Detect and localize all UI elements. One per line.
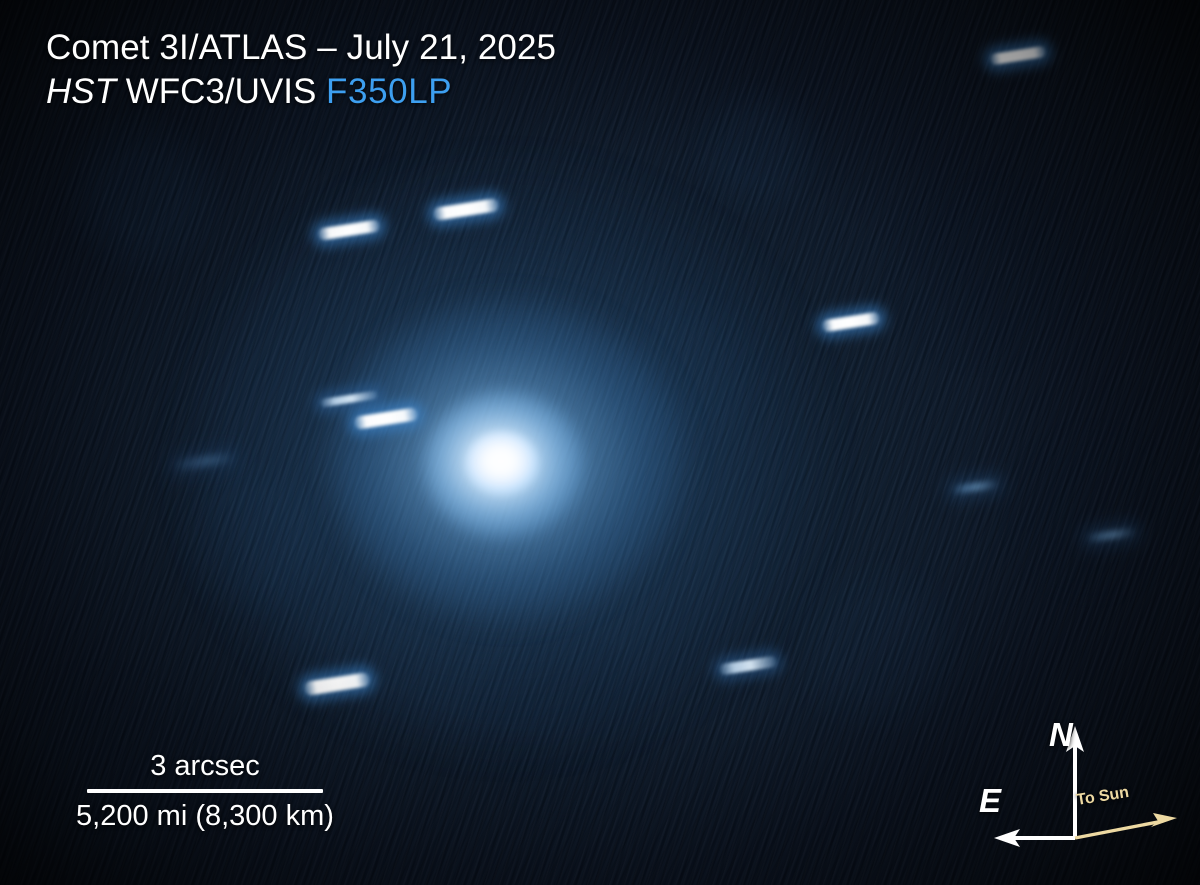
instrument-name: WFC3/UVIS [116, 72, 326, 111]
observatory-name: HST [46, 72, 116, 111]
scale-bar: 3 arcsec 5,200 mi (8,300 km) [40, 752, 370, 831]
compass-label-east: E [979, 782, 1001, 820]
compass-to-sun-arrow [1075, 813, 1177, 838]
image-title-block: Comet 3I/ATLAS – July 21, 2025 HST WFC3/… [46, 28, 556, 112]
scale-bar-angular-label: 3 arcsec [40, 752, 370, 789]
comet-image-canvas: Comet 3I/ATLAS – July 21, 2025 HST WFC3/… [0, 0, 1200, 885]
title-line-target-date: Comet 3I/ATLAS – July 21, 2025 [46, 28, 556, 69]
scale-bar-physical-label: 5,200 mi (8,300 km) [40, 793, 370, 831]
compass-east-arrow [994, 829, 1075, 847]
filter-name: F350LP [326, 72, 452, 111]
compass-rose: N E To Sun [975, 710, 1190, 860]
compass-label-north: N [1049, 716, 1073, 754]
title-line-instrument: HST WFC3/UVIS F350LP [46, 72, 556, 113]
